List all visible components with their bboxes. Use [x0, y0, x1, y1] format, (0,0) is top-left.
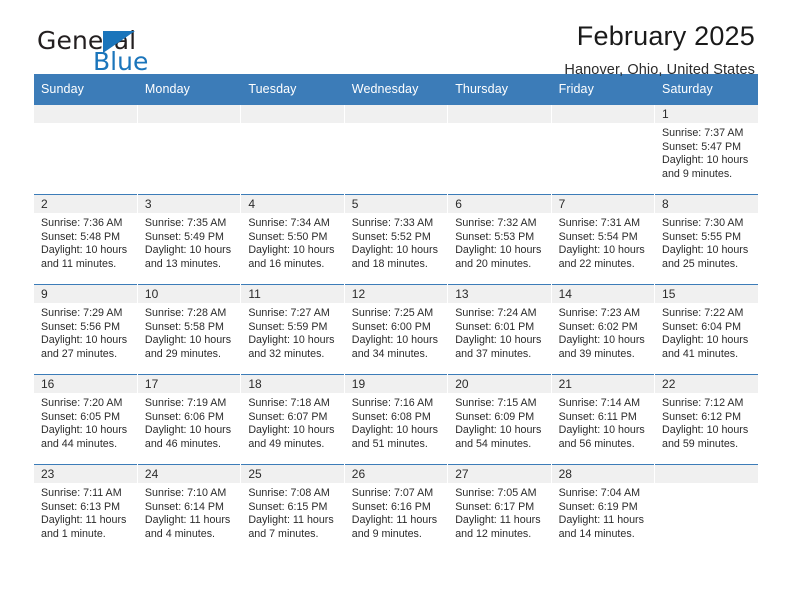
day-sun-info: Sunrise: 7:08 AMSunset: 6:15 PMDaylight:… [241, 483, 343, 541]
page-title: February 2025 [564, 22, 755, 52]
day-cell-content [655, 465, 758, 559]
sunset-time: Sunset: 5:55 PM [662, 231, 752, 245]
calendar-week-row: 1Sunrise: 7:37 AMSunset: 5:47 PMDaylight… [34, 105, 758, 195]
day-sun-info: Sunrise: 7:23 AMSunset: 6:02 PMDaylight:… [552, 303, 654, 361]
day-number: 26 [345, 465, 447, 483]
sunrise-time: Sunrise: 7:32 AM [455, 217, 544, 231]
day-sun-info: Sunrise: 7:34 AMSunset: 5:50 PMDaylight:… [241, 213, 343, 271]
day-number: 2 [34, 195, 137, 213]
day-number: 16 [34, 375, 137, 393]
sunset-time: Sunset: 6:12 PM [662, 411, 752, 425]
weekday-header-tuesday: Tuesday [241, 74, 344, 105]
sunrise-time: Sunrise: 7:25 AM [352, 307, 441, 321]
calendar-day-cell[interactable]: 27Sunrise: 7:05 AMSunset: 6:17 PMDayligh… [448, 465, 551, 560]
sunrise-time: Sunrise: 7:27 AM [248, 307, 337, 321]
day-number [448, 105, 550, 123]
sunset-time: Sunset: 6:01 PM [455, 321, 544, 335]
day-cell-content: 4Sunrise: 7:34 AMSunset: 5:50 PMDaylight… [241, 195, 343, 284]
day-cell-content: 22Sunrise: 7:12 AMSunset: 6:12 PMDayligh… [655, 375, 758, 464]
day-cell-content: 14Sunrise: 7:23 AMSunset: 6:02 PMDayligh… [552, 285, 654, 374]
calendar-day-cell[interactable]: 8Sunrise: 7:30 AMSunset: 5:55 PMDaylight… [655, 195, 758, 285]
day-cell-content: 3Sunrise: 7:35 AMSunset: 5:49 PMDaylight… [138, 195, 240, 284]
sunset-time: Sunset: 6:07 PM [248, 411, 337, 425]
sunrise-time: Sunrise: 7:28 AM [145, 307, 234, 321]
day-cell-content: 1Sunrise: 7:37 AMSunset: 5:47 PMDaylight… [655, 105, 758, 194]
calendar-day-cell[interactable]: 25Sunrise: 7:08 AMSunset: 6:15 PMDayligh… [241, 465, 344, 560]
day-sun-info: Sunrise: 7:29 AMSunset: 5:56 PMDaylight:… [34, 303, 137, 361]
day-sun-info: Sunrise: 7:31 AMSunset: 5:54 PMDaylight:… [552, 213, 654, 271]
daylight-duration: Daylight: 10 hours and 46 minutes. [145, 424, 234, 451]
day-sun-info: Sunrise: 7:28 AMSunset: 5:58 PMDaylight:… [138, 303, 240, 361]
daylight-duration: Daylight: 10 hours and 49 minutes. [248, 424, 337, 451]
calendar-week-row: 16Sunrise: 7:20 AMSunset: 6:05 PMDayligh… [34, 375, 758, 465]
day-number [241, 105, 343, 123]
calendar-day-cell[interactable]: 10Sunrise: 7:28 AMSunset: 5:58 PMDayligh… [137, 285, 240, 375]
sunset-time: Sunset: 6:00 PM [352, 321, 441, 335]
sunset-time: Sunset: 5:47 PM [662, 141, 752, 155]
sunrise-time: Sunrise: 7:30 AM [662, 217, 752, 231]
day-cell-content: 10Sunrise: 7:28 AMSunset: 5:58 PMDayligh… [138, 285, 240, 374]
day-number: 17 [138, 375, 240, 393]
day-number: 12 [345, 285, 447, 303]
calendar-day-cell[interactable]: 28Sunrise: 7:04 AMSunset: 6:19 PMDayligh… [551, 465, 654, 560]
day-cell-content [241, 105, 343, 194]
day-sun-info: Sunrise: 7:35 AMSunset: 5:49 PMDaylight:… [138, 213, 240, 271]
sunrise-time: Sunrise: 7:37 AM [662, 127, 752, 141]
day-number [552, 105, 654, 123]
calendar-day-cell [655, 465, 758, 560]
day-cell-content: 6Sunrise: 7:32 AMSunset: 5:53 PMDaylight… [448, 195, 550, 284]
day-number: 14 [552, 285, 654, 303]
daylight-duration: Daylight: 11 hours and 12 minutes. [455, 514, 544, 541]
sunrise-time: Sunrise: 7:20 AM [41, 397, 131, 411]
calendar-day-cell[interactable]: 16Sunrise: 7:20 AMSunset: 6:05 PMDayligh… [34, 375, 137, 465]
daylight-duration: Daylight: 10 hours and 56 minutes. [559, 424, 648, 451]
day-sun-info: Sunrise: 7:16 AMSunset: 6:08 PMDaylight:… [345, 393, 447, 451]
day-sun-info: Sunrise: 7:07 AMSunset: 6:16 PMDaylight:… [345, 483, 447, 541]
day-cell-content: 9Sunrise: 7:29 AMSunset: 5:56 PMDaylight… [34, 285, 137, 374]
day-number: 7 [552, 195, 654, 213]
day-number: 28 [552, 465, 654, 483]
daylight-duration: Daylight: 10 hours and 13 minutes. [145, 244, 234, 271]
sunset-time: Sunset: 6:09 PM [455, 411, 544, 425]
daylight-duration: Daylight: 10 hours and 25 minutes. [662, 244, 752, 271]
day-cell-content: 2Sunrise: 7:36 AMSunset: 5:48 PMDaylight… [34, 195, 137, 284]
day-cell-content [138, 105, 240, 194]
calendar-day-cell[interactable]: 4Sunrise: 7:34 AMSunset: 5:50 PMDaylight… [241, 195, 344, 285]
sunrise-time: Sunrise: 7:04 AM [559, 487, 648, 501]
sunset-time: Sunset: 5:56 PM [41, 321, 131, 335]
day-sun-info: Sunrise: 7:04 AMSunset: 6:19 PMDaylight:… [552, 483, 654, 541]
day-cell-content [552, 105, 654, 194]
calendar-day-cell[interactable]: 21Sunrise: 7:14 AMSunset: 6:11 PMDayligh… [551, 375, 654, 465]
day-number: 22 [655, 375, 758, 393]
day-number: 8 [655, 195, 758, 213]
day-sun-info: Sunrise: 7:11 AMSunset: 6:13 PMDaylight:… [34, 483, 137, 541]
daylight-duration: Daylight: 10 hours and 32 minutes. [248, 334, 337, 361]
day-cell-content: 27Sunrise: 7:05 AMSunset: 6:17 PMDayligh… [448, 465, 550, 559]
day-number: 27 [448, 465, 550, 483]
daylight-duration: Daylight: 10 hours and 51 minutes. [352, 424, 441, 451]
day-cell-content: 26Sunrise: 7:07 AMSunset: 6:16 PMDayligh… [345, 465, 447, 559]
day-sun-info: Sunrise: 7:22 AMSunset: 6:04 PMDaylight:… [655, 303, 758, 361]
calendar-day-cell[interactable]: 11Sunrise: 7:27 AMSunset: 5:59 PMDayligh… [241, 285, 344, 375]
sunrise-time: Sunrise: 7:22 AM [662, 307, 752, 321]
daylight-duration: Daylight: 11 hours and 1 minute. [41, 514, 131, 541]
sunset-time: Sunset: 6:19 PM [559, 501, 648, 515]
day-sun-info: Sunrise: 7:14 AMSunset: 6:11 PMDaylight:… [552, 393, 654, 451]
calendar-day-cell [137, 105, 240, 195]
calendar-day-cell[interactable]: 5Sunrise: 7:33 AMSunset: 5:52 PMDaylight… [344, 195, 447, 285]
day-number [655, 465, 758, 483]
sunset-time: Sunset: 5:59 PM [248, 321, 337, 335]
sunset-time: Sunset: 6:02 PM [559, 321, 648, 335]
sunrise-time: Sunrise: 7:05 AM [455, 487, 544, 501]
daylight-duration: Daylight: 10 hours and 18 minutes. [352, 244, 441, 271]
sunset-time: Sunset: 6:13 PM [41, 501, 131, 515]
calendar-day-cell[interactable]: 20Sunrise: 7:15 AMSunset: 6:09 PMDayligh… [448, 375, 551, 465]
sunset-time: Sunset: 5:58 PM [145, 321, 234, 335]
day-sun-info: Sunrise: 7:36 AMSunset: 5:48 PMDaylight:… [34, 213, 137, 271]
calendar-day-cell[interactable]: 15Sunrise: 7:22 AMSunset: 6:04 PMDayligh… [655, 285, 758, 375]
day-number [345, 105, 447, 123]
day-cell-content: 13Sunrise: 7:24 AMSunset: 6:01 PMDayligh… [448, 285, 550, 374]
sunset-time: Sunset: 5:50 PM [248, 231, 337, 245]
day-cell-content [345, 105, 447, 194]
calendar-day-cell[interactable]: 6Sunrise: 7:32 AMSunset: 5:53 PMDaylight… [448, 195, 551, 285]
day-cell-content: 23Sunrise: 7:11 AMSunset: 6:13 PMDayligh… [34, 465, 137, 559]
weekday-header-monday: Monday [137, 74, 240, 105]
day-sun-info: Sunrise: 7:27 AMSunset: 5:59 PMDaylight:… [241, 303, 343, 361]
day-cell-content: 18Sunrise: 7:18 AMSunset: 6:07 PMDayligh… [241, 375, 343, 464]
daylight-duration: Daylight: 10 hours and 20 minutes. [455, 244, 544, 271]
sunrise-time: Sunrise: 7:35 AM [145, 217, 234, 231]
daylight-duration: Daylight: 11 hours and 14 minutes. [559, 514, 648, 541]
calendar-day-cell[interactable]: 24Sunrise: 7:10 AMSunset: 6:14 PMDayligh… [137, 465, 240, 560]
day-cell-content: 16Sunrise: 7:20 AMSunset: 6:05 PMDayligh… [34, 375, 137, 464]
calendar-day-cell[interactable]: 7Sunrise: 7:31 AMSunset: 5:54 PMDaylight… [551, 195, 654, 285]
sunrise-time: Sunrise: 7:34 AM [248, 217, 337, 231]
calendar-day-cell[interactable]: 14Sunrise: 7:23 AMSunset: 6:02 PMDayligh… [551, 285, 654, 375]
calendar-day-cell [34, 105, 137, 195]
sunset-time: Sunset: 5:49 PM [145, 231, 234, 245]
calendar-day-cell[interactable]: 22Sunrise: 7:12 AMSunset: 6:12 PMDayligh… [655, 375, 758, 465]
day-number: 21 [552, 375, 654, 393]
day-cell-content: 15Sunrise: 7:22 AMSunset: 6:04 PMDayligh… [655, 285, 758, 374]
calendar-day-cell[interactable]: 18Sunrise: 7:18 AMSunset: 6:07 PMDayligh… [241, 375, 344, 465]
daylight-duration: Daylight: 10 hours and 39 minutes. [559, 334, 648, 361]
day-sun-info: Sunrise: 7:19 AMSunset: 6:06 PMDaylight:… [138, 393, 240, 451]
day-number: 18 [241, 375, 343, 393]
day-number: 9 [34, 285, 137, 303]
day-number: 6 [448, 195, 550, 213]
day-number: 25 [241, 465, 343, 483]
day-cell-content: 11Sunrise: 7:27 AMSunset: 5:59 PMDayligh… [241, 285, 343, 374]
sunrise-time: Sunrise: 7:14 AM [559, 397, 648, 411]
sunrise-time: Sunrise: 7:24 AM [455, 307, 544, 321]
day-cell-content: 21Sunrise: 7:14 AMSunset: 6:11 PMDayligh… [552, 375, 654, 464]
sunset-time: Sunset: 6:16 PM [352, 501, 441, 515]
day-cell-content: 28Sunrise: 7:04 AMSunset: 6:19 PMDayligh… [552, 465, 654, 559]
day-cell-content: 12Sunrise: 7:25 AMSunset: 6:00 PMDayligh… [345, 285, 447, 374]
day-number: 3 [138, 195, 240, 213]
page-header: General Blue February 2025 Hanover, Ohio… [34, 0, 758, 74]
calendar-body: 1Sunrise: 7:37 AMSunset: 5:47 PMDaylight… [34, 105, 758, 560]
calendar-day-cell[interactable]: 23Sunrise: 7:11 AMSunset: 6:13 PMDayligh… [34, 465, 137, 560]
calendar-day-cell[interactable]: 2Sunrise: 7:36 AMSunset: 5:48 PMDaylight… [34, 195, 137, 285]
day-sun-info: Sunrise: 7:24 AMSunset: 6:01 PMDaylight:… [448, 303, 550, 361]
sunrise-sunset-calendar: Sunday Monday Tuesday Wednesday Thursday… [34, 74, 758, 559]
day-number: 5 [345, 195, 447, 213]
daylight-duration: Daylight: 10 hours and 44 minutes. [41, 424, 131, 451]
sunset-time: Sunset: 5:53 PM [455, 231, 544, 245]
sunset-time: Sunset: 6:08 PM [352, 411, 441, 425]
calendar-day-cell [551, 105, 654, 195]
day-sun-info: Sunrise: 7:30 AMSunset: 5:55 PMDaylight:… [655, 213, 758, 271]
weekday-header-thursday: Thursday [448, 74, 551, 105]
day-number: 15 [655, 285, 758, 303]
day-cell-content [448, 105, 550, 194]
daylight-duration: Daylight: 10 hours and 29 minutes. [145, 334, 234, 361]
day-cell-content: 5Sunrise: 7:33 AMSunset: 5:52 PMDaylight… [345, 195, 447, 284]
day-sun-info: Sunrise: 7:20 AMSunset: 6:05 PMDaylight:… [34, 393, 137, 451]
day-cell-content: 17Sunrise: 7:19 AMSunset: 6:06 PMDayligh… [138, 375, 240, 464]
sunrise-time: Sunrise: 7:10 AM [145, 487, 234, 501]
day-number [138, 105, 240, 123]
calendar-day-cell[interactable]: 12Sunrise: 7:25 AMSunset: 6:00 PMDayligh… [344, 285, 447, 375]
day-cell-content: 19Sunrise: 7:16 AMSunset: 6:08 PMDayligh… [345, 375, 447, 464]
day-sun-info: Sunrise: 7:33 AMSunset: 5:52 PMDaylight:… [345, 213, 447, 271]
weekday-header-wednesday: Wednesday [344, 74, 447, 105]
sunset-time: Sunset: 6:15 PM [248, 501, 337, 515]
day-number: 1 [655, 105, 758, 123]
sunrise-time: Sunrise: 7:36 AM [41, 217, 131, 231]
sunset-time: Sunset: 6:06 PM [145, 411, 234, 425]
sunset-time: Sunset: 6:11 PM [559, 411, 648, 425]
sunrise-time: Sunrise: 7:08 AM [248, 487, 337, 501]
day-sun-info: Sunrise: 7:12 AMSunset: 6:12 PMDaylight:… [655, 393, 758, 451]
day-number [34, 105, 137, 123]
weekday-header-friday: Friday [551, 74, 654, 105]
sunset-time: Sunset: 5:48 PM [41, 231, 131, 245]
day-sun-info: Sunrise: 7:25 AMSunset: 6:00 PMDaylight:… [345, 303, 447, 361]
sunset-time: Sunset: 6:17 PM [455, 501, 544, 515]
sunrise-time: Sunrise: 7:31 AM [559, 217, 648, 231]
calendar-day-cell[interactable]: 26Sunrise: 7:07 AMSunset: 6:16 PMDayligh… [344, 465, 447, 560]
day-number: 23 [34, 465, 137, 483]
day-number: 19 [345, 375, 447, 393]
daylight-duration: Daylight: 10 hours and 41 minutes. [662, 334, 752, 361]
daylight-duration: Daylight: 10 hours and 27 minutes. [41, 334, 131, 361]
sunrise-time: Sunrise: 7:11 AM [41, 487, 131, 501]
title-block: February 2025 Hanover, Ohio, United Stat… [564, 22, 755, 78]
day-sun-info: Sunrise: 7:10 AMSunset: 6:14 PMDaylight:… [138, 483, 240, 541]
weekday-header-sunday: Sunday [34, 74, 137, 105]
daylight-duration: Daylight: 11 hours and 9 minutes. [352, 514, 441, 541]
daylight-duration: Daylight: 10 hours and 11 minutes. [41, 244, 131, 271]
sunrise-time: Sunrise: 7:29 AM [41, 307, 131, 321]
day-cell-content [34, 105, 137, 194]
calendar-day-cell[interactable]: 1Sunrise: 7:37 AMSunset: 5:47 PMDaylight… [655, 105, 758, 195]
sunrise-time: Sunrise: 7:16 AM [352, 397, 441, 411]
sunrise-time: Sunrise: 7:15 AM [455, 397, 544, 411]
calendar-week-row: 23Sunrise: 7:11 AMSunset: 6:13 PMDayligh… [34, 465, 758, 560]
calendar-day-cell[interactable]: 3Sunrise: 7:35 AMSunset: 5:49 PMDaylight… [137, 195, 240, 285]
calendar-page: General Blue February 2025 Hanover, Ohio… [0, 0, 792, 612]
day-number: 4 [241, 195, 343, 213]
day-cell-content: 20Sunrise: 7:15 AMSunset: 6:09 PMDayligh… [448, 375, 550, 464]
day-sun-info: Sunrise: 7:18 AMSunset: 6:07 PMDaylight:… [241, 393, 343, 451]
weekday-header-row: Sunday Monday Tuesday Wednesday Thursday… [34, 74, 758, 105]
calendar-day-cell [344, 105, 447, 195]
day-sun-info: Sunrise: 7:15 AMSunset: 6:09 PMDaylight:… [448, 393, 550, 451]
sunrise-time: Sunrise: 7:19 AM [145, 397, 234, 411]
day-number: 13 [448, 285, 550, 303]
day-number: 10 [138, 285, 240, 303]
sunrise-time: Sunrise: 7:23 AM [559, 307, 648, 321]
day-cell-content: 7Sunrise: 7:31 AMSunset: 5:54 PMDaylight… [552, 195, 654, 284]
sunrise-time: Sunrise: 7:33 AM [352, 217, 441, 231]
day-cell-content: 24Sunrise: 7:10 AMSunset: 6:14 PMDayligh… [138, 465, 240, 559]
calendar-week-row: 2Sunrise: 7:36 AMSunset: 5:48 PMDaylight… [34, 195, 758, 285]
day-number: 24 [138, 465, 240, 483]
day-sun-info: Sunrise: 7:32 AMSunset: 5:53 PMDaylight:… [448, 213, 550, 271]
daylight-duration: Daylight: 10 hours and 22 minutes. [559, 244, 648, 271]
sunrise-time: Sunrise: 7:07 AM [352, 487, 441, 501]
sunrise-time: Sunrise: 7:18 AM [248, 397, 337, 411]
daylight-duration: Daylight: 10 hours and 34 minutes. [352, 334, 441, 361]
calendar-day-cell[interactable]: 13Sunrise: 7:24 AMSunset: 6:01 PMDayligh… [448, 285, 551, 375]
calendar-day-cell [448, 105, 551, 195]
sunset-time: Sunset: 6:05 PM [41, 411, 131, 425]
daylight-duration: Daylight: 10 hours and 59 minutes. [662, 424, 752, 451]
logo-text-blue: Blue [93, 49, 148, 74]
day-sun-info: Sunrise: 7:37 AMSunset: 5:47 PMDaylight:… [655, 123, 758, 181]
sunset-time: Sunset: 6:04 PM [662, 321, 752, 335]
daylight-duration: Daylight: 10 hours and 37 minutes. [455, 334, 544, 361]
day-number: 20 [448, 375, 550, 393]
weekday-header-saturday: Saturday [655, 74, 758, 105]
daylight-duration: Daylight: 10 hours and 16 minutes. [248, 244, 337, 271]
page-subtitle: Hanover, Ohio, United States [564, 62, 755, 78]
day-cell-content: 25Sunrise: 7:08 AMSunset: 6:15 PMDayligh… [241, 465, 343, 559]
daylight-duration: Daylight: 10 hours and 54 minutes. [455, 424, 544, 451]
calendar-day-cell [241, 105, 344, 195]
daylight-duration: Daylight: 11 hours and 7 minutes. [248, 514, 337, 541]
sunset-time: Sunset: 6:14 PM [145, 501, 234, 515]
day-cell-content: 8Sunrise: 7:30 AMSunset: 5:55 PMDaylight… [655, 195, 758, 284]
calendar-day-cell[interactable]: 9Sunrise: 7:29 AMSunset: 5:56 PMDaylight… [34, 285, 137, 375]
daylight-duration: Daylight: 10 hours and 9 minutes. [662, 154, 752, 181]
calendar-day-cell[interactable]: 19Sunrise: 7:16 AMSunset: 6:08 PMDayligh… [344, 375, 447, 465]
day-number: 11 [241, 285, 343, 303]
daylight-duration: Daylight: 11 hours and 4 minutes. [145, 514, 234, 541]
sunset-time: Sunset: 5:52 PM [352, 231, 441, 245]
calendar-week-row: 9Sunrise: 7:29 AMSunset: 5:56 PMDaylight… [34, 285, 758, 375]
calendar-day-cell[interactable]: 17Sunrise: 7:19 AMSunset: 6:06 PMDayligh… [137, 375, 240, 465]
day-sun-info: Sunrise: 7:05 AMSunset: 6:17 PMDaylight:… [448, 483, 550, 541]
sunrise-time: Sunrise: 7:12 AM [662, 397, 752, 411]
sunset-time: Sunset: 5:54 PM [559, 231, 648, 245]
general-blue-logo[interactable]: General Blue [37, 28, 267, 78]
